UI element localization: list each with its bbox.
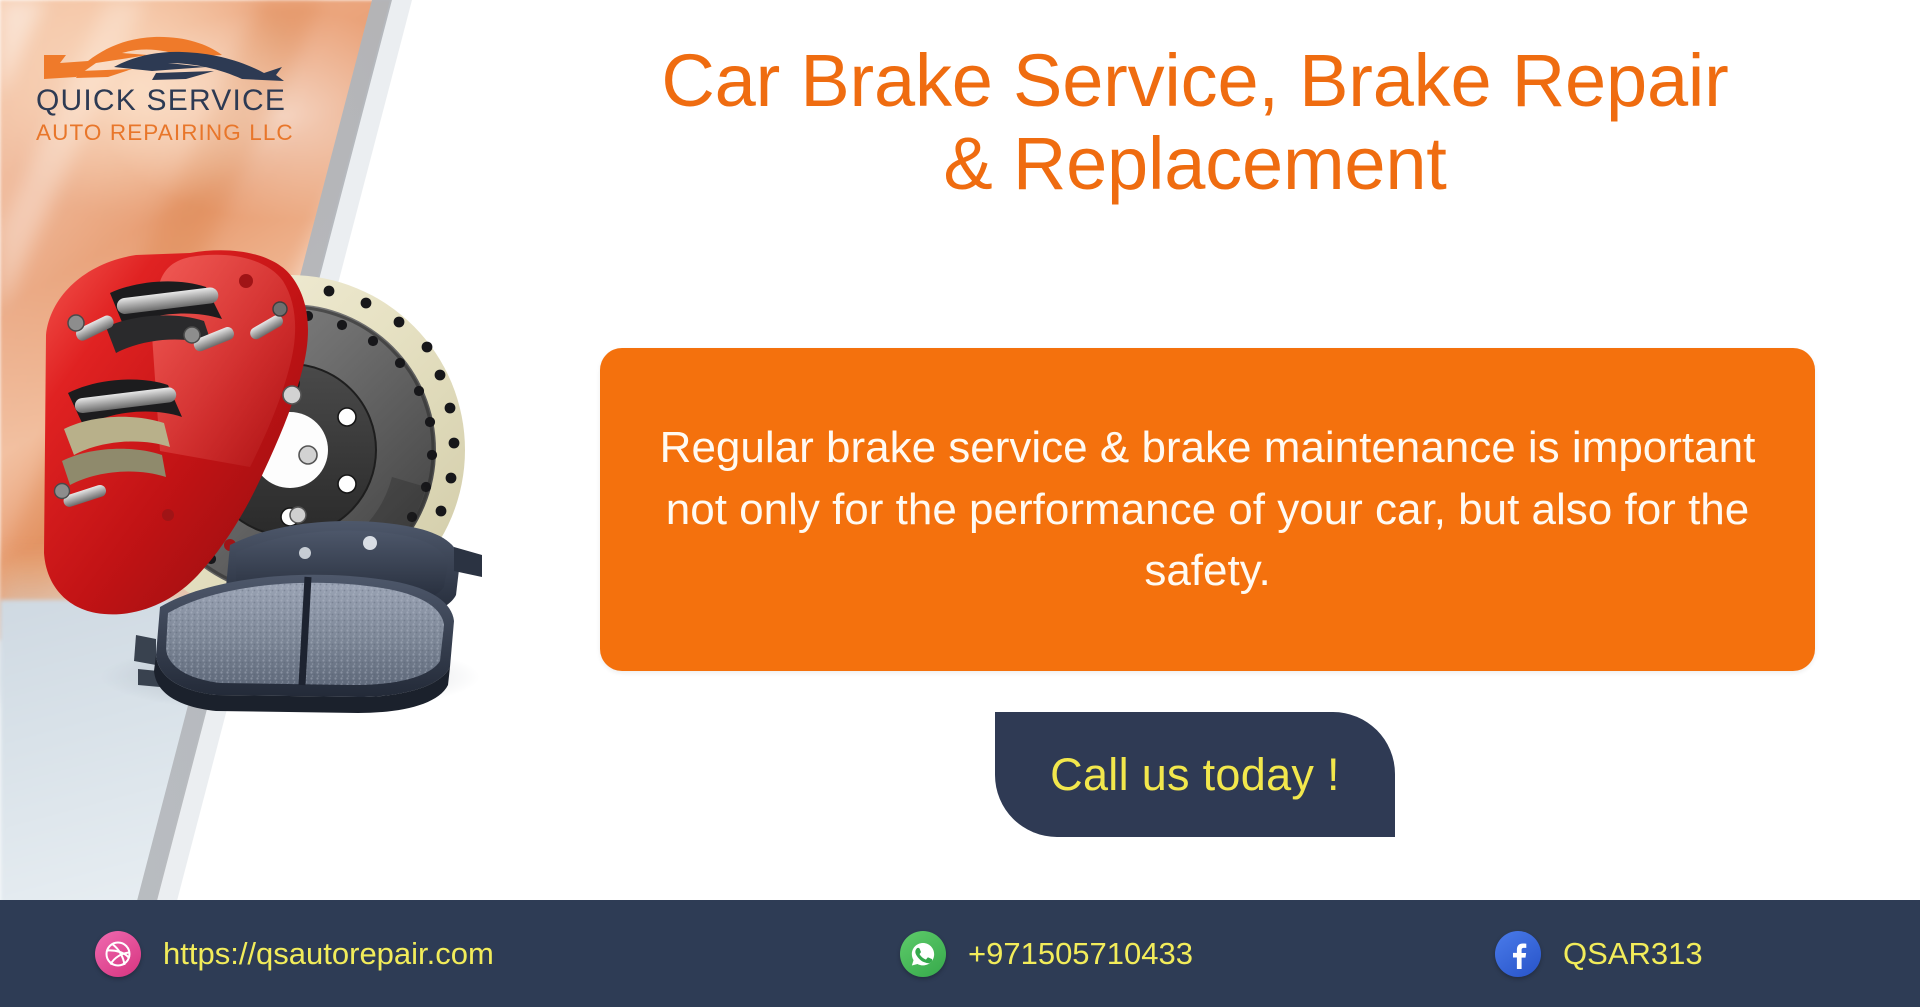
logo-line-1: QUICK SERVICE bbox=[36, 86, 298, 116]
footer-whatsapp-item[interactable]: +971505710433 bbox=[900, 931, 1193, 977]
headline-line-2: & Replacement bbox=[500, 123, 1890, 206]
call-us-today-button[interactable]: Call us today ! bbox=[995, 712, 1395, 837]
globe-dribbble-icon bbox=[95, 931, 141, 977]
footer-website-text: https://qsautorepair.com bbox=[163, 936, 494, 972]
headline-line-1: Car Brake Service, Brake Repair bbox=[661, 39, 1728, 122]
poster-canvas: QUICK SERVICE AUTO REPAIRING LLC Car Bra… bbox=[0, 0, 1920, 1007]
car-silhouette-icon bbox=[36, 33, 286, 85]
cta-label: Call us today ! bbox=[1050, 749, 1340, 801]
footer-facebook-text: QSAR313 bbox=[1563, 936, 1703, 972]
brand-logo[interactable]: QUICK SERVICE AUTO REPAIRING LLC bbox=[36, 33, 298, 145]
footer-facebook-item[interactable]: QSAR313 bbox=[1495, 931, 1703, 977]
footer-whatsapp-text: +971505710433 bbox=[968, 936, 1193, 972]
facebook-icon bbox=[1495, 931, 1541, 977]
whatsapp-icon bbox=[900, 931, 946, 977]
brake-disc-caliper-pads-icon bbox=[40, 215, 510, 715]
page-title: Car Brake Service, Brake Repair & Replac… bbox=[500, 40, 1890, 206]
callout-text: Regular brake service & brake maintenanc… bbox=[600, 417, 1815, 602]
brake-artwork bbox=[40, 215, 510, 715]
callout-box: Regular brake service & brake maintenanc… bbox=[600, 348, 1815, 671]
logo-line-2: AUTO REPAIRING LLC bbox=[36, 122, 298, 145]
contact-footer-bar: https://qsautorepair.com +971505710433 Q… bbox=[0, 900, 1920, 1007]
footer-website-item[interactable]: https://qsautorepair.com bbox=[95, 931, 494, 977]
